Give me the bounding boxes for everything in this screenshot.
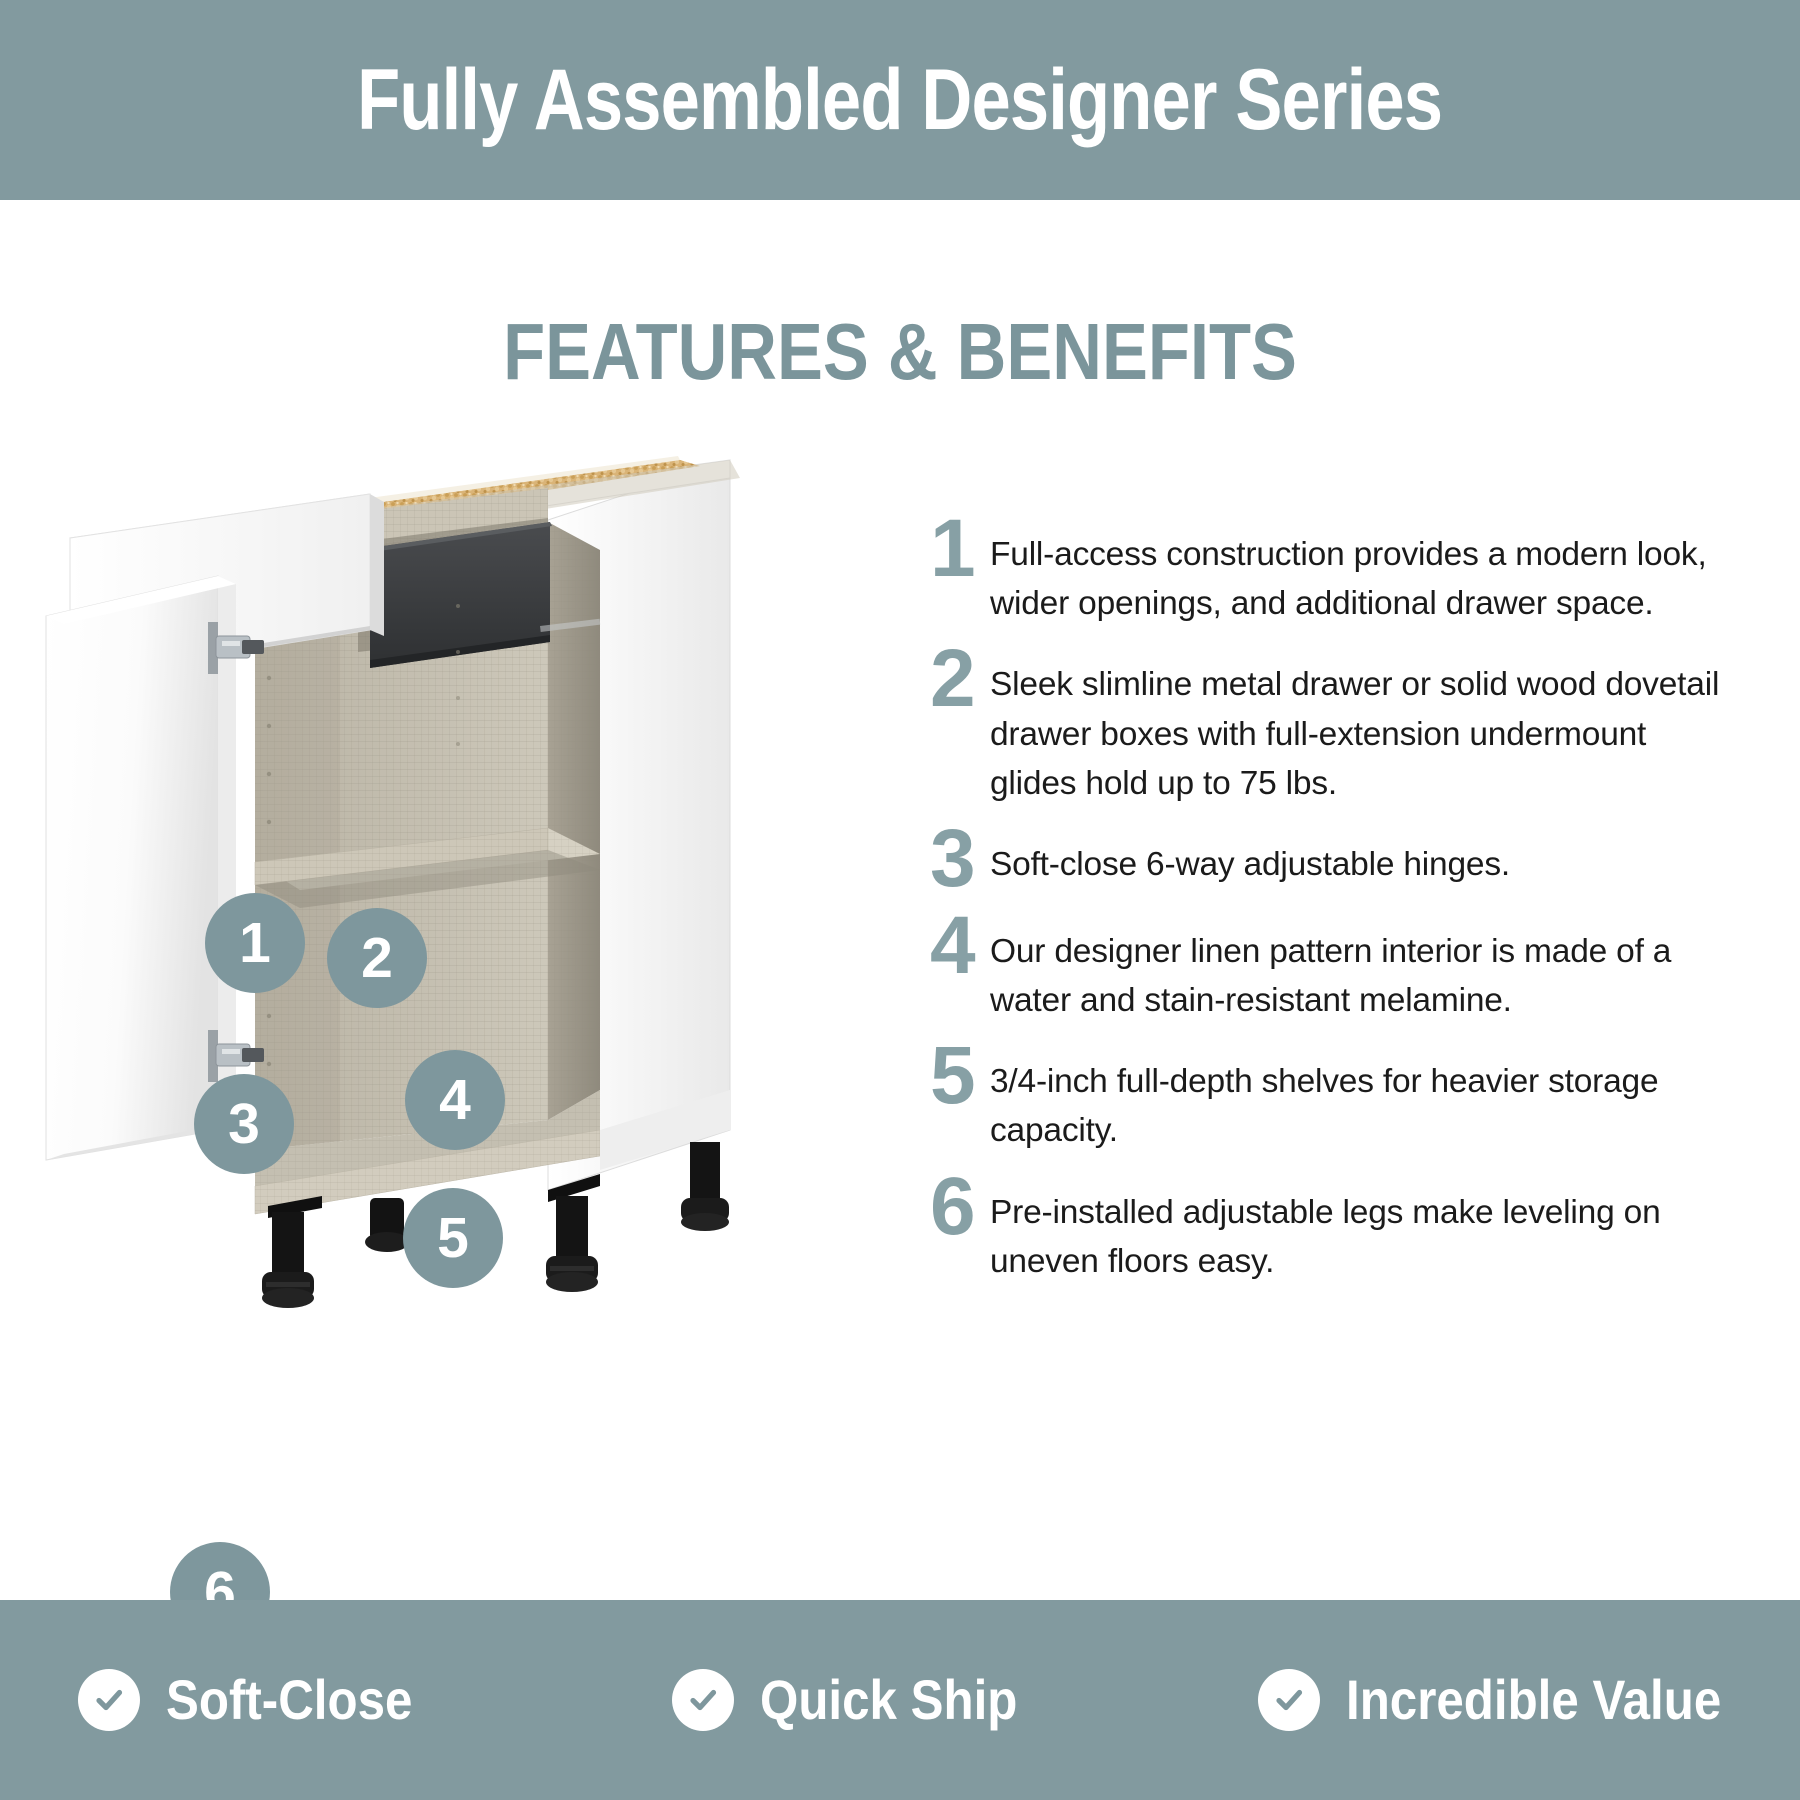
feature-description: 3/4-inch full-depth shelves for heavier … [990, 1047, 1730, 1155]
footer-badge-label: Quick Ship [760, 1672, 1017, 1728]
feature-description: Pre-installed adjustable legs make level… [990, 1178, 1730, 1286]
feature-description: Sleek slimline metal drawer or solid woo… [990, 650, 1730, 808]
callout-marker-3: 3 [194, 1074, 294, 1174]
feature-number: 2 [930, 644, 990, 715]
check-circle-icon [78, 1669, 140, 1731]
feature-number: 1 [930, 514, 990, 585]
header-bar: Fully Assembled Designer Series [0, 0, 1800, 200]
feature-number: 4 [930, 911, 990, 982]
footer-bar: Soft-Close Quick Ship Incredible Value [0, 1600, 1800, 1800]
feature-number: 3 [930, 824, 990, 895]
feature-description: Our designer linen pattern interior is m… [990, 917, 1730, 1025]
feature-item: 3 Soft-close 6-way adjustable hinges. [930, 830, 1730, 895]
callout-marker-2: 2 [327, 908, 427, 1008]
feature-number: 6 [930, 1172, 990, 1243]
footer-badge-soft-close: Soft-Close [78, 1669, 446, 1731]
leg-rear-right [681, 1142, 729, 1231]
feature-item: 5 3/4-inch full-depth shelves for heavie… [930, 1047, 1730, 1155]
callout-marker-5: 5 [403, 1188, 503, 1288]
feature-item: 6 Pre-installed adjustable legs make lev… [930, 1178, 1730, 1286]
feature-description: Soft-close 6-way adjustable hinges. [990, 830, 1730, 889]
footer-badge-incredible-value: Incredible Value [1258, 1669, 1772, 1731]
leg-front-right [546, 1174, 600, 1292]
footer-badge-quick-ship: Quick Ship [672, 1669, 1053, 1731]
feature-item: 2 Sleek slimline metal drawer or solid w… [930, 650, 1730, 808]
features-list: 1 Full-access construction provides a mo… [930, 520, 1730, 1308]
check-circle-icon [1258, 1669, 1320, 1731]
callout-marker-1: 1 [205, 893, 305, 993]
feature-number: 5 [930, 1041, 990, 1112]
section-heading: FEATURES & BENEFITS [126, 312, 1674, 392]
leg-front-left [262, 1196, 322, 1308]
callout-marker-4: 4 [405, 1050, 505, 1150]
footer-badge-label: Soft-Close [166, 1672, 412, 1728]
footer-badge-label: Incredible Value [1346, 1672, 1721, 1728]
feature-item: 4 Our designer linen pattern interior is… [930, 917, 1730, 1025]
product-illustration: 1 2 3 4 5 6 [40, 430, 900, 1330]
feature-description: Full-access construction provides a mode… [990, 520, 1730, 628]
page-title: Fully Assembled Designer Series [357, 57, 1442, 143]
feature-item: 1 Full-access construction provides a mo… [930, 520, 1730, 628]
check-circle-icon [672, 1669, 734, 1731]
